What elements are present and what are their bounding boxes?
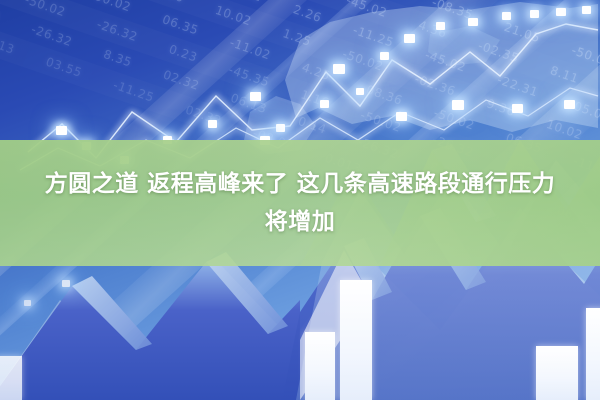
line-node [333,64,345,74]
line-node [250,92,261,101]
line-node [564,100,575,109]
line-node [276,124,285,132]
line-node [582,6,591,14]
line-node [502,12,511,20]
line-node [62,280,70,287]
line-node [436,22,445,30]
line-node [512,104,523,113]
headline-line-2: 将增加 [265,207,336,237]
headline-line-1: 方圆之道 返程高峰来了 这几条高速路段通行压力 [45,169,556,199]
line-node [556,8,566,16]
headline-text-block: 方圆之道 返程高峰来了 这几条高速路段通行压力 将增加 [0,140,600,266]
line-node [56,126,67,135]
line-node [320,100,329,108]
line-node [24,300,31,306]
line-node [208,120,217,128]
line-node [468,18,478,26]
line-node [452,100,464,110]
banner-image: -45.02-11.25-08.3521.05-50.02-45.02-11.2… [0,0,600,400]
line-node [404,34,415,43]
line-node [380,52,389,60]
line-node [356,88,364,95]
line-node [396,112,407,121]
line-node [530,10,539,18]
